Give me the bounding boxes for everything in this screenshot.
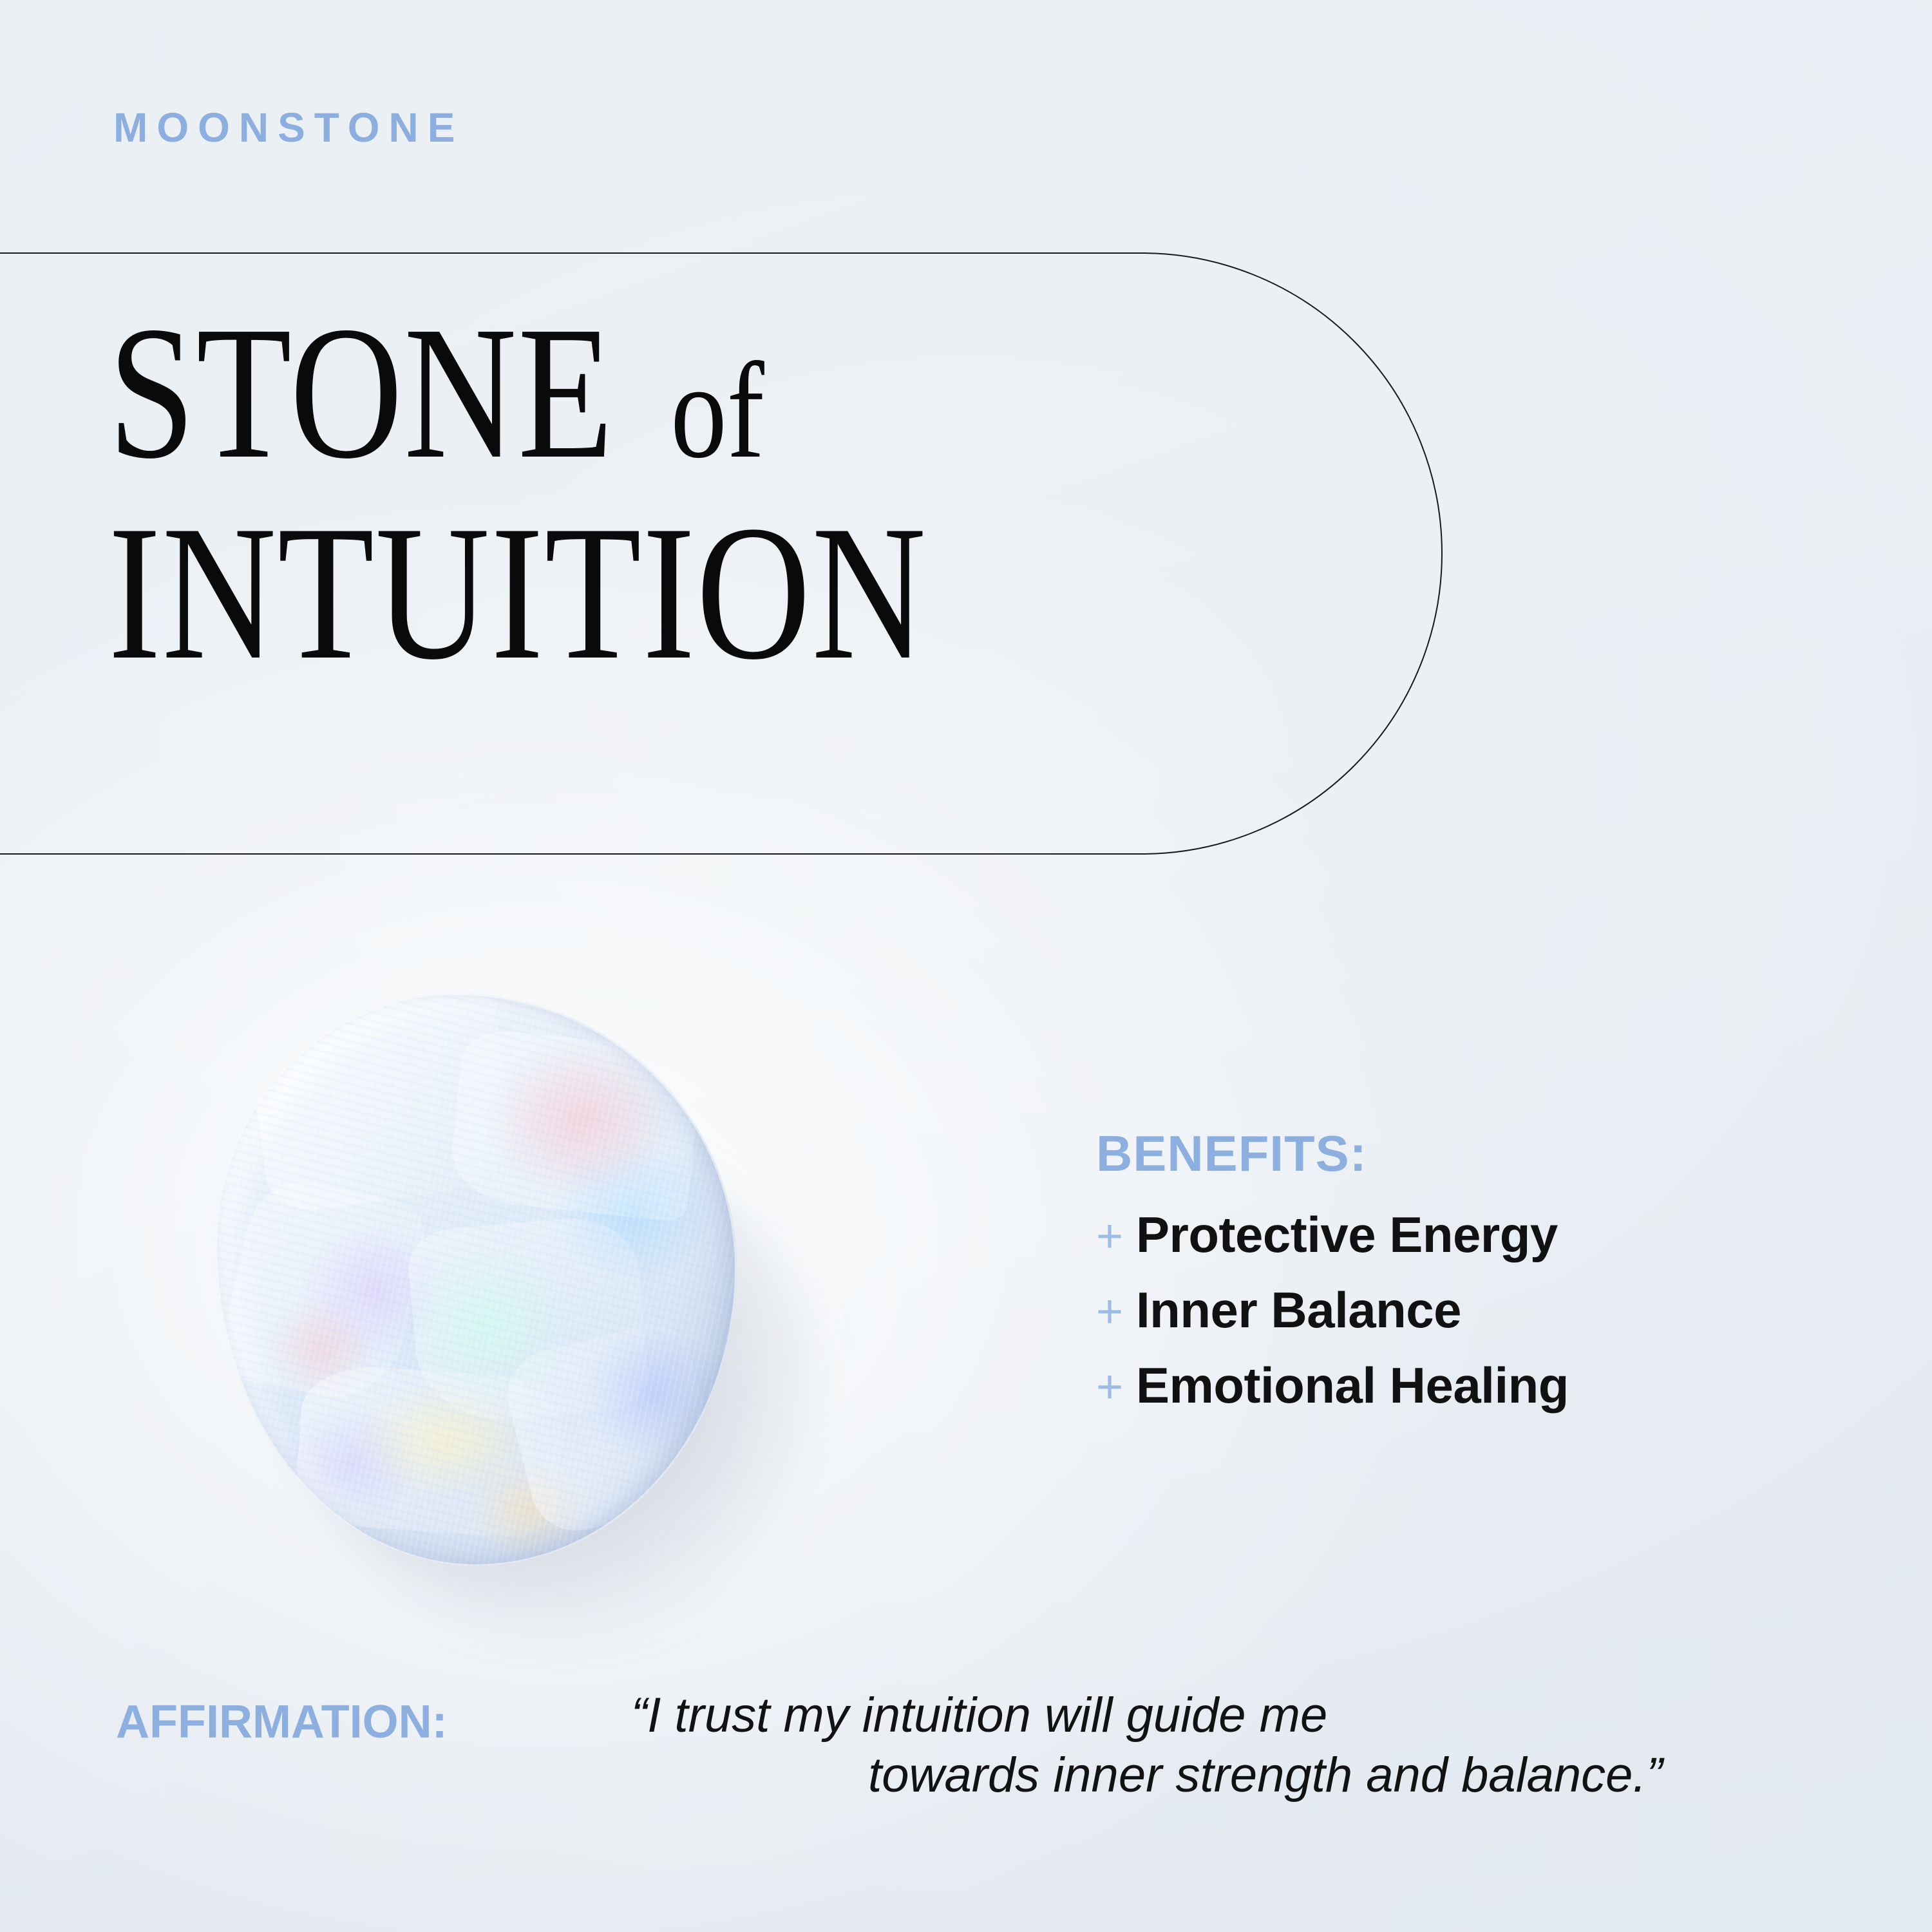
moonstone-crystal-icon [215,993,737,1566]
eyebrow-label: MOONSTONE [113,107,464,148]
benefit-label: Emotional Healing [1136,1352,1569,1419]
benefit-label: Protective Energy [1136,1202,1558,1268]
plus-icon: + [1096,1364,1136,1410]
affirmation-quote: “I trust my intuition will guide me towa… [631,1686,1842,1805]
affirmation-quote-line-two: towards inner strength and balance.” [631,1746,1842,1806]
plus-icon: + [1096,1289,1136,1335]
moonstone-image [193,966,773,1597]
benefit-item-inner-balance: + Inner Balance [1096,1277,1856,1343]
benefit-label: Inner Balance [1136,1277,1461,1343]
benefit-item-protective-energy: + Protective Energy [1096,1202,1856,1268]
title-line-two: INTUITION [108,500,1164,685]
page-title: STONE of INTUITION [108,301,1396,685]
benefits-section: BENEFITS: + Protective Energy + Inner Ba… [1096,1128,1856,1428]
benefits-heading: BENEFITS: [1096,1128,1856,1179]
affirmation-label: AFFIRMATION: [116,1699,448,1745]
title-line-one: STONE of [108,301,1164,484]
title-word-stone: STONE [108,287,614,498]
affirmation-quote-line-one: “I trust my intuition will guide me [631,1686,1842,1746]
poster-canvas: MOONSTONE STONE of INTUITION BENEFITS: +… [0,0,1932,1932]
title-word-of: of [614,335,764,487]
benefit-item-emotional-healing: + Emotional Healing [1096,1352,1856,1419]
plus-icon: + [1096,1213,1136,1260]
